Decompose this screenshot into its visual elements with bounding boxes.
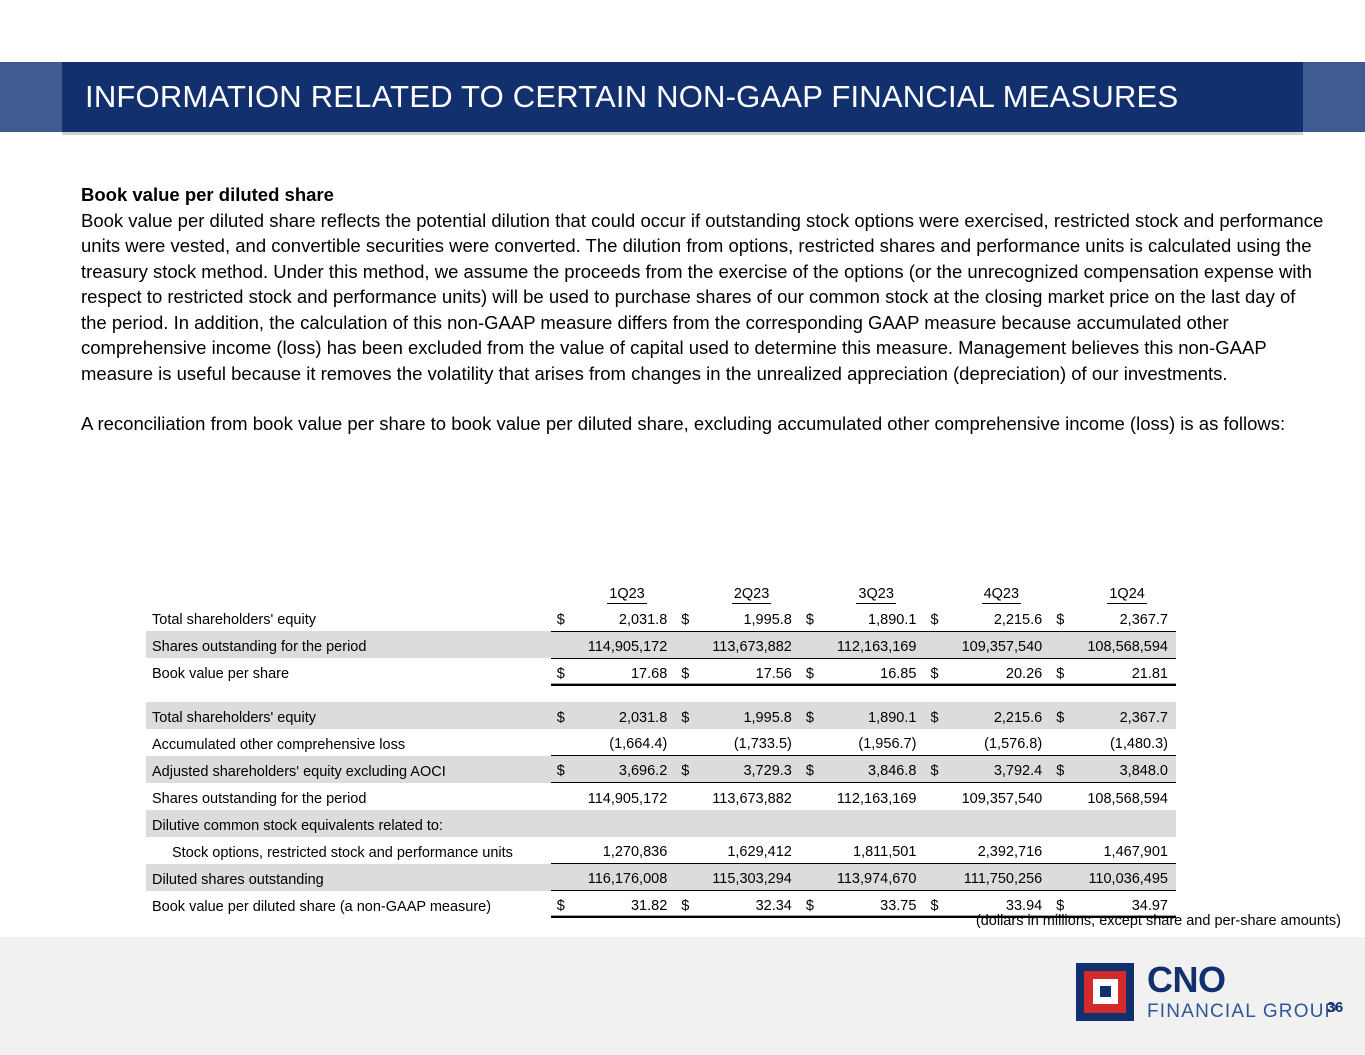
cell-value: 2,392,716 [952, 837, 1050, 864]
table-row: Diluted shares outstanding116,176,008115… [146, 864, 1176, 891]
cell-value: 1,890.1 [828, 702, 925, 729]
cell-currency-symbol [1050, 864, 1078, 891]
cell-currency-symbol: $ [924, 604, 952, 631]
cell-currency-symbol: $ [800, 756, 828, 783]
column-header-3q23: 3Q23 [828, 570, 925, 604]
cell-value: 33.75 [828, 891, 925, 918]
table-row: Shares outstanding for the period114,905… [146, 783, 1176, 810]
cell-currency-symbol [800, 810, 828, 837]
column-header-4q23: 4Q23 [952, 570, 1050, 604]
units-footnote: (dollars in millions, except share and p… [976, 913, 1341, 929]
cell-currency-symbol: $ [675, 891, 703, 918]
cell-value: 114,905,172 [579, 631, 676, 658]
cell-value: 113,673,882 [703, 783, 800, 810]
cell-value: 3,729.3 [703, 756, 800, 783]
cell-value: 2,031.8 [579, 604, 676, 631]
cell-value: 17.56 [703, 658, 800, 685]
cell-currency-symbol: $ [800, 604, 828, 631]
cell-currency-symbol: $ [924, 702, 952, 729]
cell-currency-symbol: $ [551, 756, 579, 783]
cell-currency-symbol: $ [800, 891, 828, 918]
table-section-spacer-cell [146, 685, 1176, 702]
cell-value: 21.81 [1078, 658, 1176, 685]
cell-value [1078, 810, 1176, 837]
cell-value: (1,956.7) [828, 729, 925, 756]
cell-value: (1,733.5) [703, 729, 800, 756]
cell-value: 116,176,008 [579, 864, 676, 891]
cell-currency-symbol [800, 837, 828, 864]
cell-value: 1,890.1 [828, 604, 925, 631]
cell-currency-symbol [551, 864, 579, 891]
cell-currency-symbol [1050, 729, 1078, 756]
column-header-1q24: 1Q24 [1078, 570, 1176, 604]
cell-currency-symbol [924, 729, 952, 756]
row-label: Shares outstanding for the period [146, 783, 551, 810]
cell-currency-symbol [924, 810, 952, 837]
header-shadow [62, 132, 1303, 135]
cell-value: 109,357,540 [952, 631, 1050, 658]
cno-logo-wordmark: CNO [1147, 962, 1339, 998]
cell-currency-symbol [675, 631, 703, 658]
column-header-1q23: 1Q23 [579, 570, 676, 604]
cell-value: 2,031.8 [579, 702, 676, 729]
table-row: Dilutive common stock equivalents relate… [146, 810, 1176, 837]
row-label: Accumulated other comprehensive loss [146, 729, 551, 756]
cell-currency-symbol: $ [924, 756, 952, 783]
cell-currency-symbol: $ [800, 702, 828, 729]
table-row: Shares outstanding for the period114,905… [146, 631, 1176, 658]
cell-currency-symbol: $ [675, 658, 703, 685]
cell-value: 1,995.8 [703, 702, 800, 729]
cell-value: 112,163,169 [828, 631, 925, 658]
table-row: Adjusted shareholders' equity excluding … [146, 756, 1176, 783]
cell-value: 20.26 [952, 658, 1050, 685]
cell-currency-symbol [924, 631, 952, 658]
cell-currency-symbol: $ [1050, 702, 1078, 729]
cell-value: 1,270,836 [579, 837, 676, 864]
table-body: Total shareholders' equity$2,031.8$1,995… [146, 604, 1176, 918]
cell-currency-symbol [551, 783, 579, 810]
row-label: Dilutive common stock equivalents relate… [146, 810, 551, 837]
cell-value: 2,367.7 [1078, 702, 1176, 729]
cell-currency-symbol: $ [675, 756, 703, 783]
table-row: Total shareholders' equity$2,031.8$1,995… [146, 702, 1176, 729]
cell-value: 113,974,670 [828, 864, 925, 891]
table-row: Accumulated other comprehensive loss(1,6… [146, 729, 1176, 756]
cell-currency-symbol [1050, 837, 1078, 864]
column-currency-spacer [551, 570, 579, 604]
cell-value [828, 810, 925, 837]
cell-currency-symbol [675, 864, 703, 891]
cell-value: 1,629,412 [703, 837, 800, 864]
cell-currency-symbol: $ [924, 658, 952, 685]
cell-currency-symbol [800, 864, 828, 891]
cell-currency-symbol: $ [800, 658, 828, 685]
cell-currency-symbol: $ [675, 604, 703, 631]
cell-currency-symbol [1050, 810, 1078, 837]
cell-value [579, 810, 676, 837]
cell-value: 17.68 [579, 658, 676, 685]
paragraph-gap [81, 386, 1326, 411]
slide-body: Book value per diluted share Book value … [81, 182, 1326, 437]
cell-value: 108,568,594 [1078, 631, 1176, 658]
row-label: Book value per share [146, 658, 551, 685]
cell-currency-symbol [551, 837, 579, 864]
column-currency-spacer [800, 570, 828, 604]
column-header-label: 3Q23 [856, 586, 895, 604]
cell-currency-symbol [675, 837, 703, 864]
cell-currency-symbol [551, 631, 579, 658]
cell-currency-symbol [551, 810, 579, 837]
table-row: Stock options, restricted stock and perf… [146, 837, 1176, 864]
cell-currency-symbol: $ [1050, 604, 1078, 631]
paragraph-definition: Book value per diluted share reflects th… [81, 208, 1326, 387]
cell-value: 2,215.6 [952, 604, 1050, 631]
cell-value: 1,811,501 [828, 837, 925, 864]
column-currency-spacer [675, 570, 703, 604]
cell-currency-symbol [675, 783, 703, 810]
cell-value: 115,303,294 [703, 864, 800, 891]
row-label: Total shareholders' equity [146, 604, 551, 631]
cell-currency-symbol: $ [1050, 756, 1078, 783]
cno-logo-red-ring [1084, 971, 1126, 1013]
column-header-label: 4Q23 [982, 586, 1021, 604]
cell-currency-symbol [924, 864, 952, 891]
table-row: Total shareholders' equity$2,031.8$1,995… [146, 604, 1176, 631]
cell-value: 2,215.6 [952, 702, 1050, 729]
page-number: 36 [1327, 1000, 1343, 1016]
cell-value: 3,792.4 [952, 756, 1050, 783]
cell-currency-symbol: $ [675, 702, 703, 729]
cell-value: 114,905,172 [579, 783, 676, 810]
paragraph-reconciliation: A reconciliation from book value per sha… [81, 411, 1333, 437]
row-label: Stock options, restricted stock and perf… [146, 837, 551, 864]
cell-currency-symbol [675, 810, 703, 837]
table-head: 1Q232Q233Q234Q231Q24 [146, 570, 1176, 604]
cno-logo-center-square [1100, 986, 1111, 997]
column-header-2q23: 2Q23 [703, 570, 800, 604]
column-currency-spacer [1050, 570, 1078, 604]
cell-value: 3,696.2 [579, 756, 676, 783]
cell-value: 108,568,594 [1078, 783, 1176, 810]
cell-currency-symbol [800, 783, 828, 810]
reconciliation-table: 1Q232Q233Q234Q231Q24 Total shareholders'… [146, 570, 1176, 918]
cell-currency-symbol [1050, 631, 1078, 658]
cell-currency-symbol [551, 729, 579, 756]
cell-value: 16.85 [828, 658, 925, 685]
column-header-label: 1Q23 [607, 586, 646, 604]
table-section-spacer [146, 685, 1176, 702]
row-label: Total shareholders' equity [146, 702, 551, 729]
row-label: Adjusted shareholders' equity excluding … [146, 756, 551, 783]
cell-value: (1,664.4) [579, 729, 676, 756]
cell-value: (1,576.8) [952, 729, 1050, 756]
column-header-label: 1Q24 [1107, 586, 1146, 604]
cell-currency-symbol: $ [1050, 658, 1078, 685]
column-header-label: 2Q23 [732, 586, 771, 604]
cell-value: 112,163,169 [828, 783, 925, 810]
table-row: Book value per share$17.68$17.56$16.85$2… [146, 658, 1176, 685]
cell-value: 113,673,882 [703, 631, 800, 658]
cell-value: 109,357,540 [952, 783, 1050, 810]
row-label: Diluted shares outstanding [146, 864, 551, 891]
cell-value: 2,367.7 [1078, 604, 1176, 631]
cell-currency-symbol: $ [551, 604, 579, 631]
cell-value: 3,848.0 [1078, 756, 1176, 783]
cell-currency-symbol [1050, 783, 1078, 810]
cell-value: (1,480.3) [1078, 729, 1176, 756]
cno-logo-white-ring [1093, 979, 1118, 1004]
cno-logo: CNO FINANCIAL GROUP [1076, 962, 1339, 1021]
table-header-row: 1Q232Q233Q234Q231Q24 [146, 570, 1176, 604]
cell-currency-symbol: $ [551, 891, 579, 918]
section-heading: Book value per diluted share [81, 182, 1326, 208]
cell-value: 3,846.8 [828, 756, 925, 783]
cell-value: 1,467,901 [1078, 837, 1176, 864]
cell-value: 1,995.8 [703, 604, 800, 631]
slide-header-bar: INFORMATION RELATED TO CERTAIN NON-GAAP … [62, 62, 1303, 132]
cell-currency-symbol: $ [551, 702, 579, 729]
cno-logo-text: CNO FINANCIAL GROUP [1147, 962, 1339, 1021]
cell-value: 32.34 [703, 891, 800, 918]
cell-currency-symbol [924, 837, 952, 864]
cell-value: 31.82 [579, 891, 676, 918]
cell-value: 110,036,495 [1078, 864, 1176, 891]
page-title: INFORMATION RELATED TO CERTAIN NON-GAAP … [62, 79, 1178, 115]
cno-logo-mark-icon [1076, 963, 1134, 1021]
table-corner-cell [146, 570, 551, 604]
cell-value [952, 810, 1050, 837]
column-currency-spacer [924, 570, 952, 604]
row-label: Book value per diluted share (a non-GAAP… [146, 891, 551, 918]
cell-currency-symbol [924, 783, 952, 810]
row-label: Shares outstanding for the period [146, 631, 551, 658]
cell-currency-symbol: $ [924, 891, 952, 918]
cell-value [703, 810, 800, 837]
cell-currency-symbol: $ [551, 658, 579, 685]
cno-logo-tagline: FINANCIAL GROUP [1147, 1002, 1339, 1021]
cell-currency-symbol [800, 729, 828, 756]
cell-currency-symbol [800, 631, 828, 658]
cell-value: 111,750,256 [952, 864, 1050, 891]
cell-currency-symbol [675, 729, 703, 756]
